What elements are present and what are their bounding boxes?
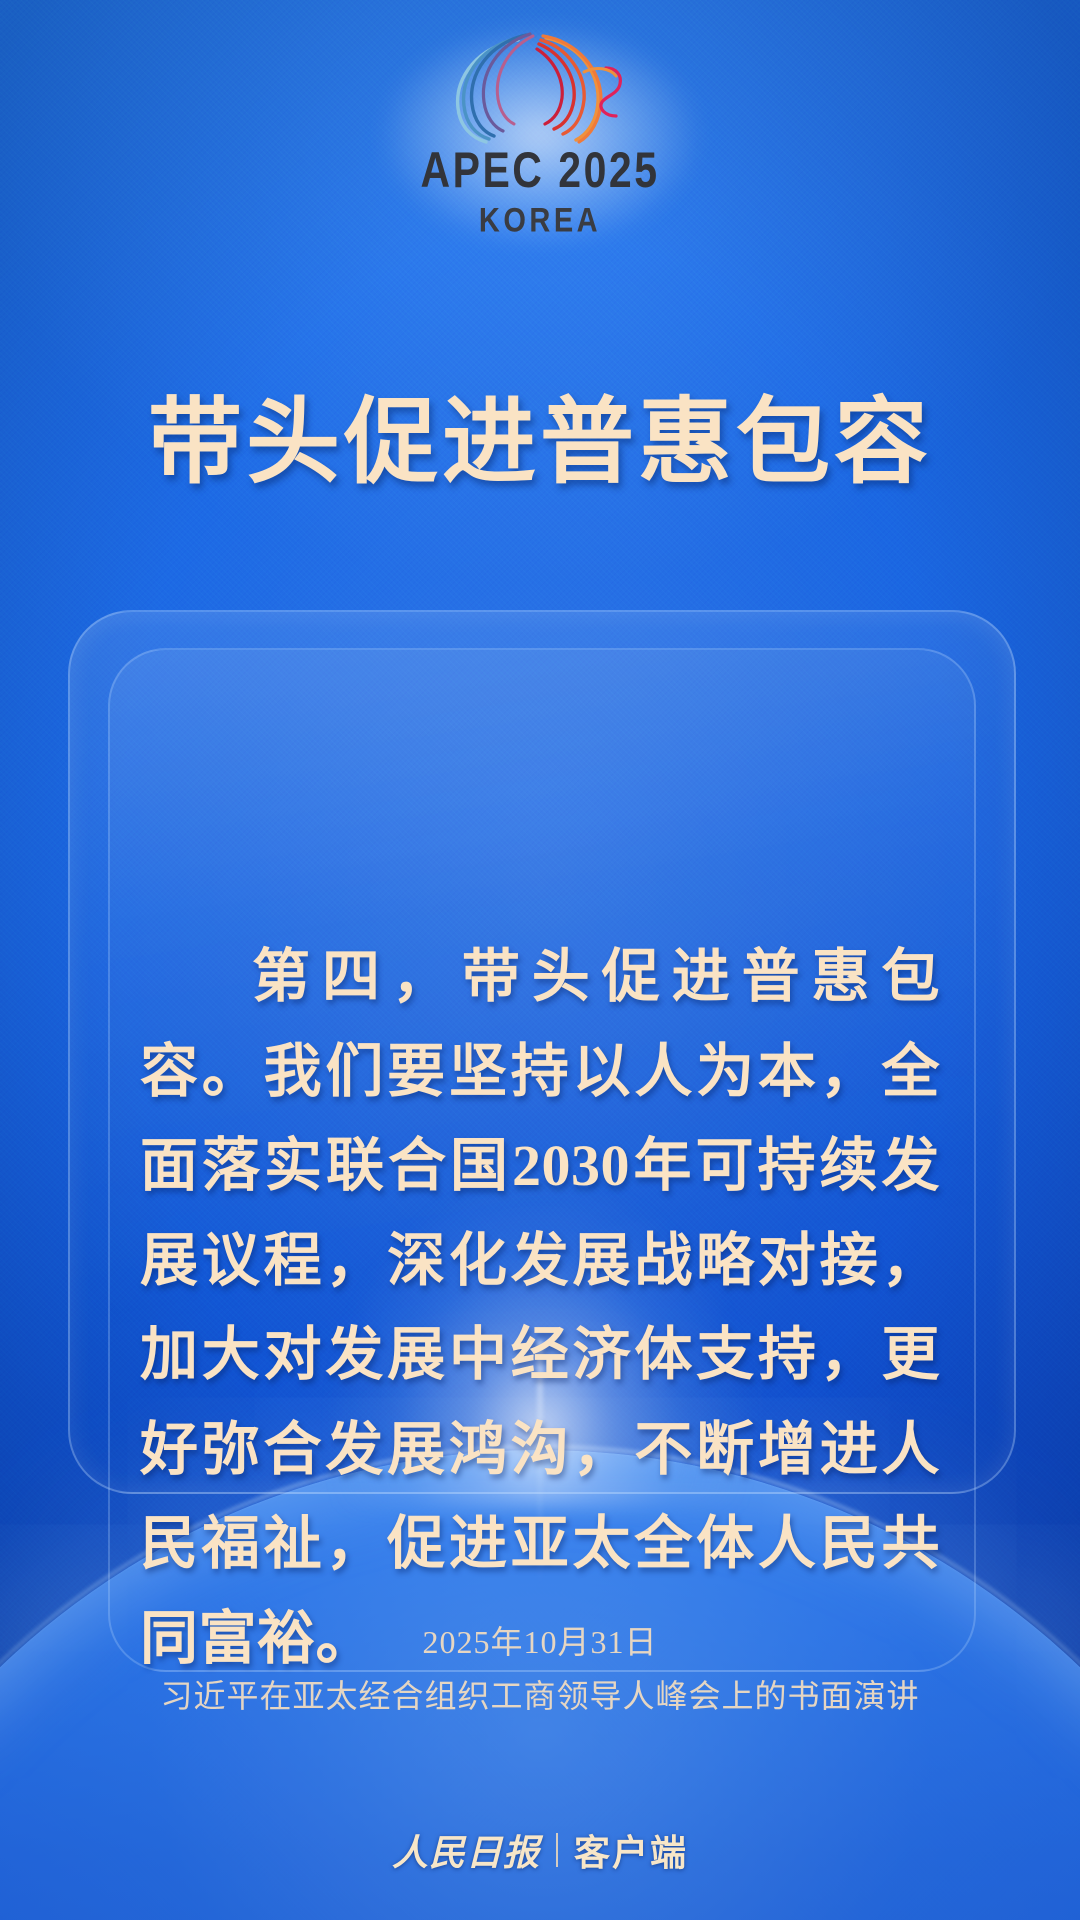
brand-divider [556,1833,558,1867]
speech-excerpt: 第四，带头促进普惠包容。我们要坚持以人为本，全面落实联合国2030年可持续发展议… [140,930,940,1686]
speech-date: 2025年10月31日 [0,1618,1080,1666]
poster-title: 带头促进普惠包容 [0,391,1080,496]
apec-logo-block: APEC 2025 KOREA [0,24,1080,236]
brand-footer: 人民日报 客户端 [0,1824,1080,1876]
speech-source: 习近平在亚太经合组织工商领导人峰会上的书面演讲 [0,1672,1080,1720]
publisher-logo: 人民日报 [392,1824,540,1876]
product-name: 客户端 [574,1824,688,1876]
poster-meta: 2025年10月31日 习近平在亚太经合组织工商领导人峰会上的书面演讲 [0,1618,1080,1720]
poster-root: APEC 2025 KOREA 带头促进普惠包容 第四，带头促进普惠包容。我们要… [0,0,1080,1920]
apec-wordmark: APEC 2025 [0,145,1080,195]
apec-host-country: KOREA [0,204,1080,238]
apec-emblem-icon [410,24,670,152]
